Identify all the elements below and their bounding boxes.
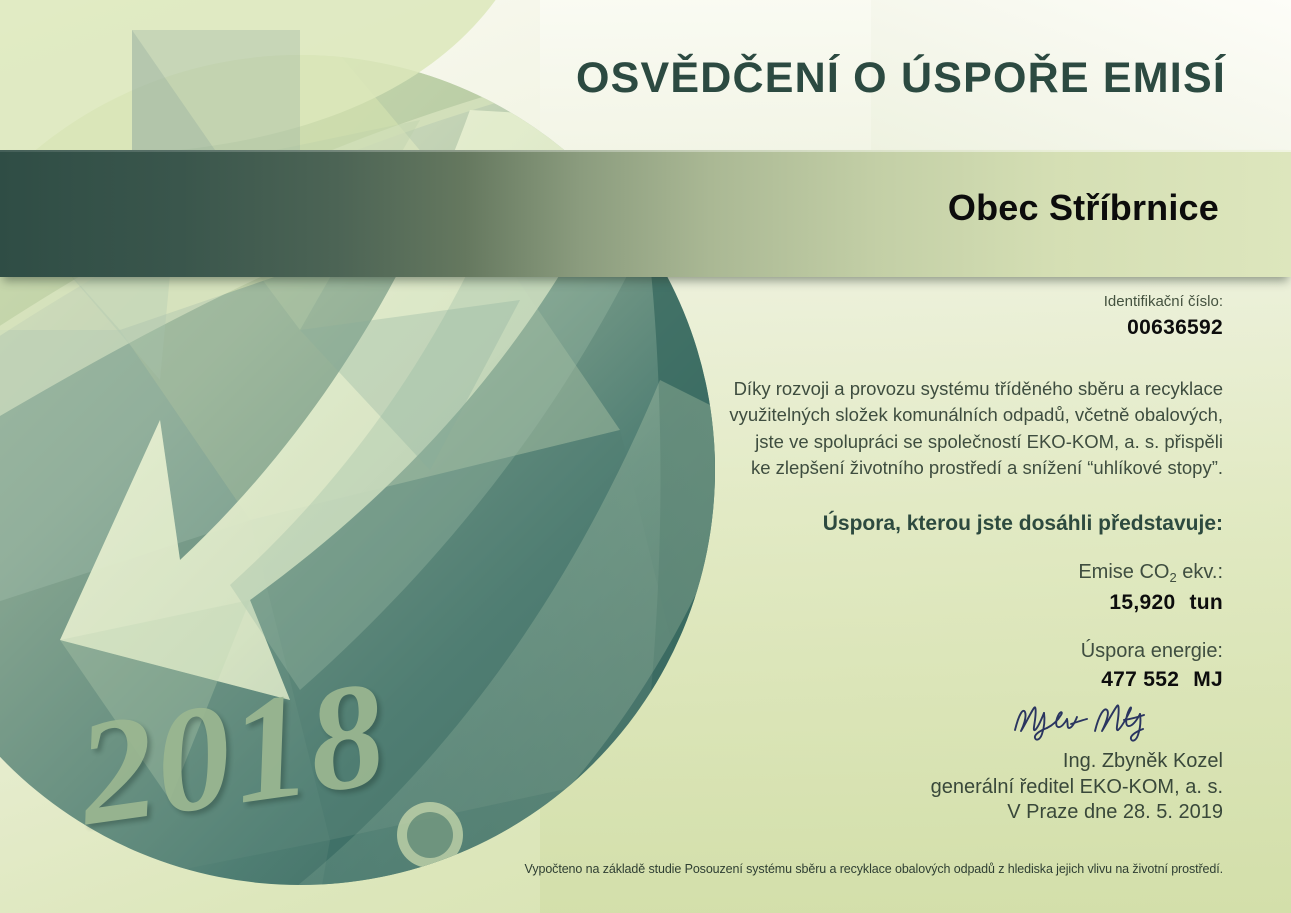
band-highlight-line [0,150,1291,152]
metric-co2-label-text: Emise CO [1078,561,1169,583]
metric-co2-value-row: 15,920tun [663,591,1223,615]
metric-co2-label-suffix: ekv.: [1177,561,1223,583]
savings-heading: Úspora, kterou jste dosáhli představuje: [663,512,1223,536]
paragraph-line: Díky rozvoji a provozu systému tříděného… [663,376,1223,403]
paragraph-line: jste ve spolupráci se společností EKO-KO… [663,429,1223,456]
metric-energy-value-row: 477 552MJ [663,668,1223,692]
metric-co2: Emise CO2 ekv.: 15,920tun [663,560,1223,615]
signature-block: Ing. Zbyněk Kozel generální ředitel EKO-… [663,700,1223,826]
description-paragraph: Díky rozvoji a provozu systému tříděného… [663,376,1223,483]
signatory-name: Ing. Zbyněk Kozel [663,749,1223,775]
signatory-role: generální ředitel EKO-KOM, a. s. [663,775,1223,801]
metric-co2-subscript: 2 [1169,570,1176,585]
paragraph-line: využitelných složek komunálních odpadů, … [663,402,1223,429]
metric-co2-label: Emise CO2 ekv.: [663,560,1223,586]
paragraph-line: ke zlepšení životního prostředí a snížen… [663,455,1223,482]
identification-number-label: Identifikační číslo: [663,292,1223,312]
emission-savings-certificate: OSVĚDČENÍ O ÚSPOŘE EMISÍ Obec Stříbrnice… [0,0,1291,913]
metric-energy: Úspora energie: 477 552MJ [663,639,1223,692]
footer-note: Vypočteno na základě studie Posouzení sy… [525,862,1223,876]
metric-energy-label: Úspora energie: [663,639,1223,663]
metric-energy-unit: MJ [1193,668,1223,691]
metric-co2-unit: tun [1189,591,1223,614]
certificate-title: OSVĚDČENÍ O ÚSPOŘE EMISÍ [576,54,1226,103]
identification-number-value: 00636592 [663,316,1223,340]
metric-co2-value: 15,920 [1109,591,1175,614]
recipient-name: Obec Stříbrnice [948,187,1219,229]
metric-energy-value: 477 552 [1101,668,1179,691]
certificate-details: Identifikační číslo: 00636592 Díky rozvo… [663,292,1223,692]
signature-text: Ing. Zbyněk Kozel generální ředitel EKO-… [663,749,1223,826]
handwritten-signature-icon [1011,700,1161,742]
signature-place-date: V Praze dne 28. 5. 2019 [663,800,1223,826]
